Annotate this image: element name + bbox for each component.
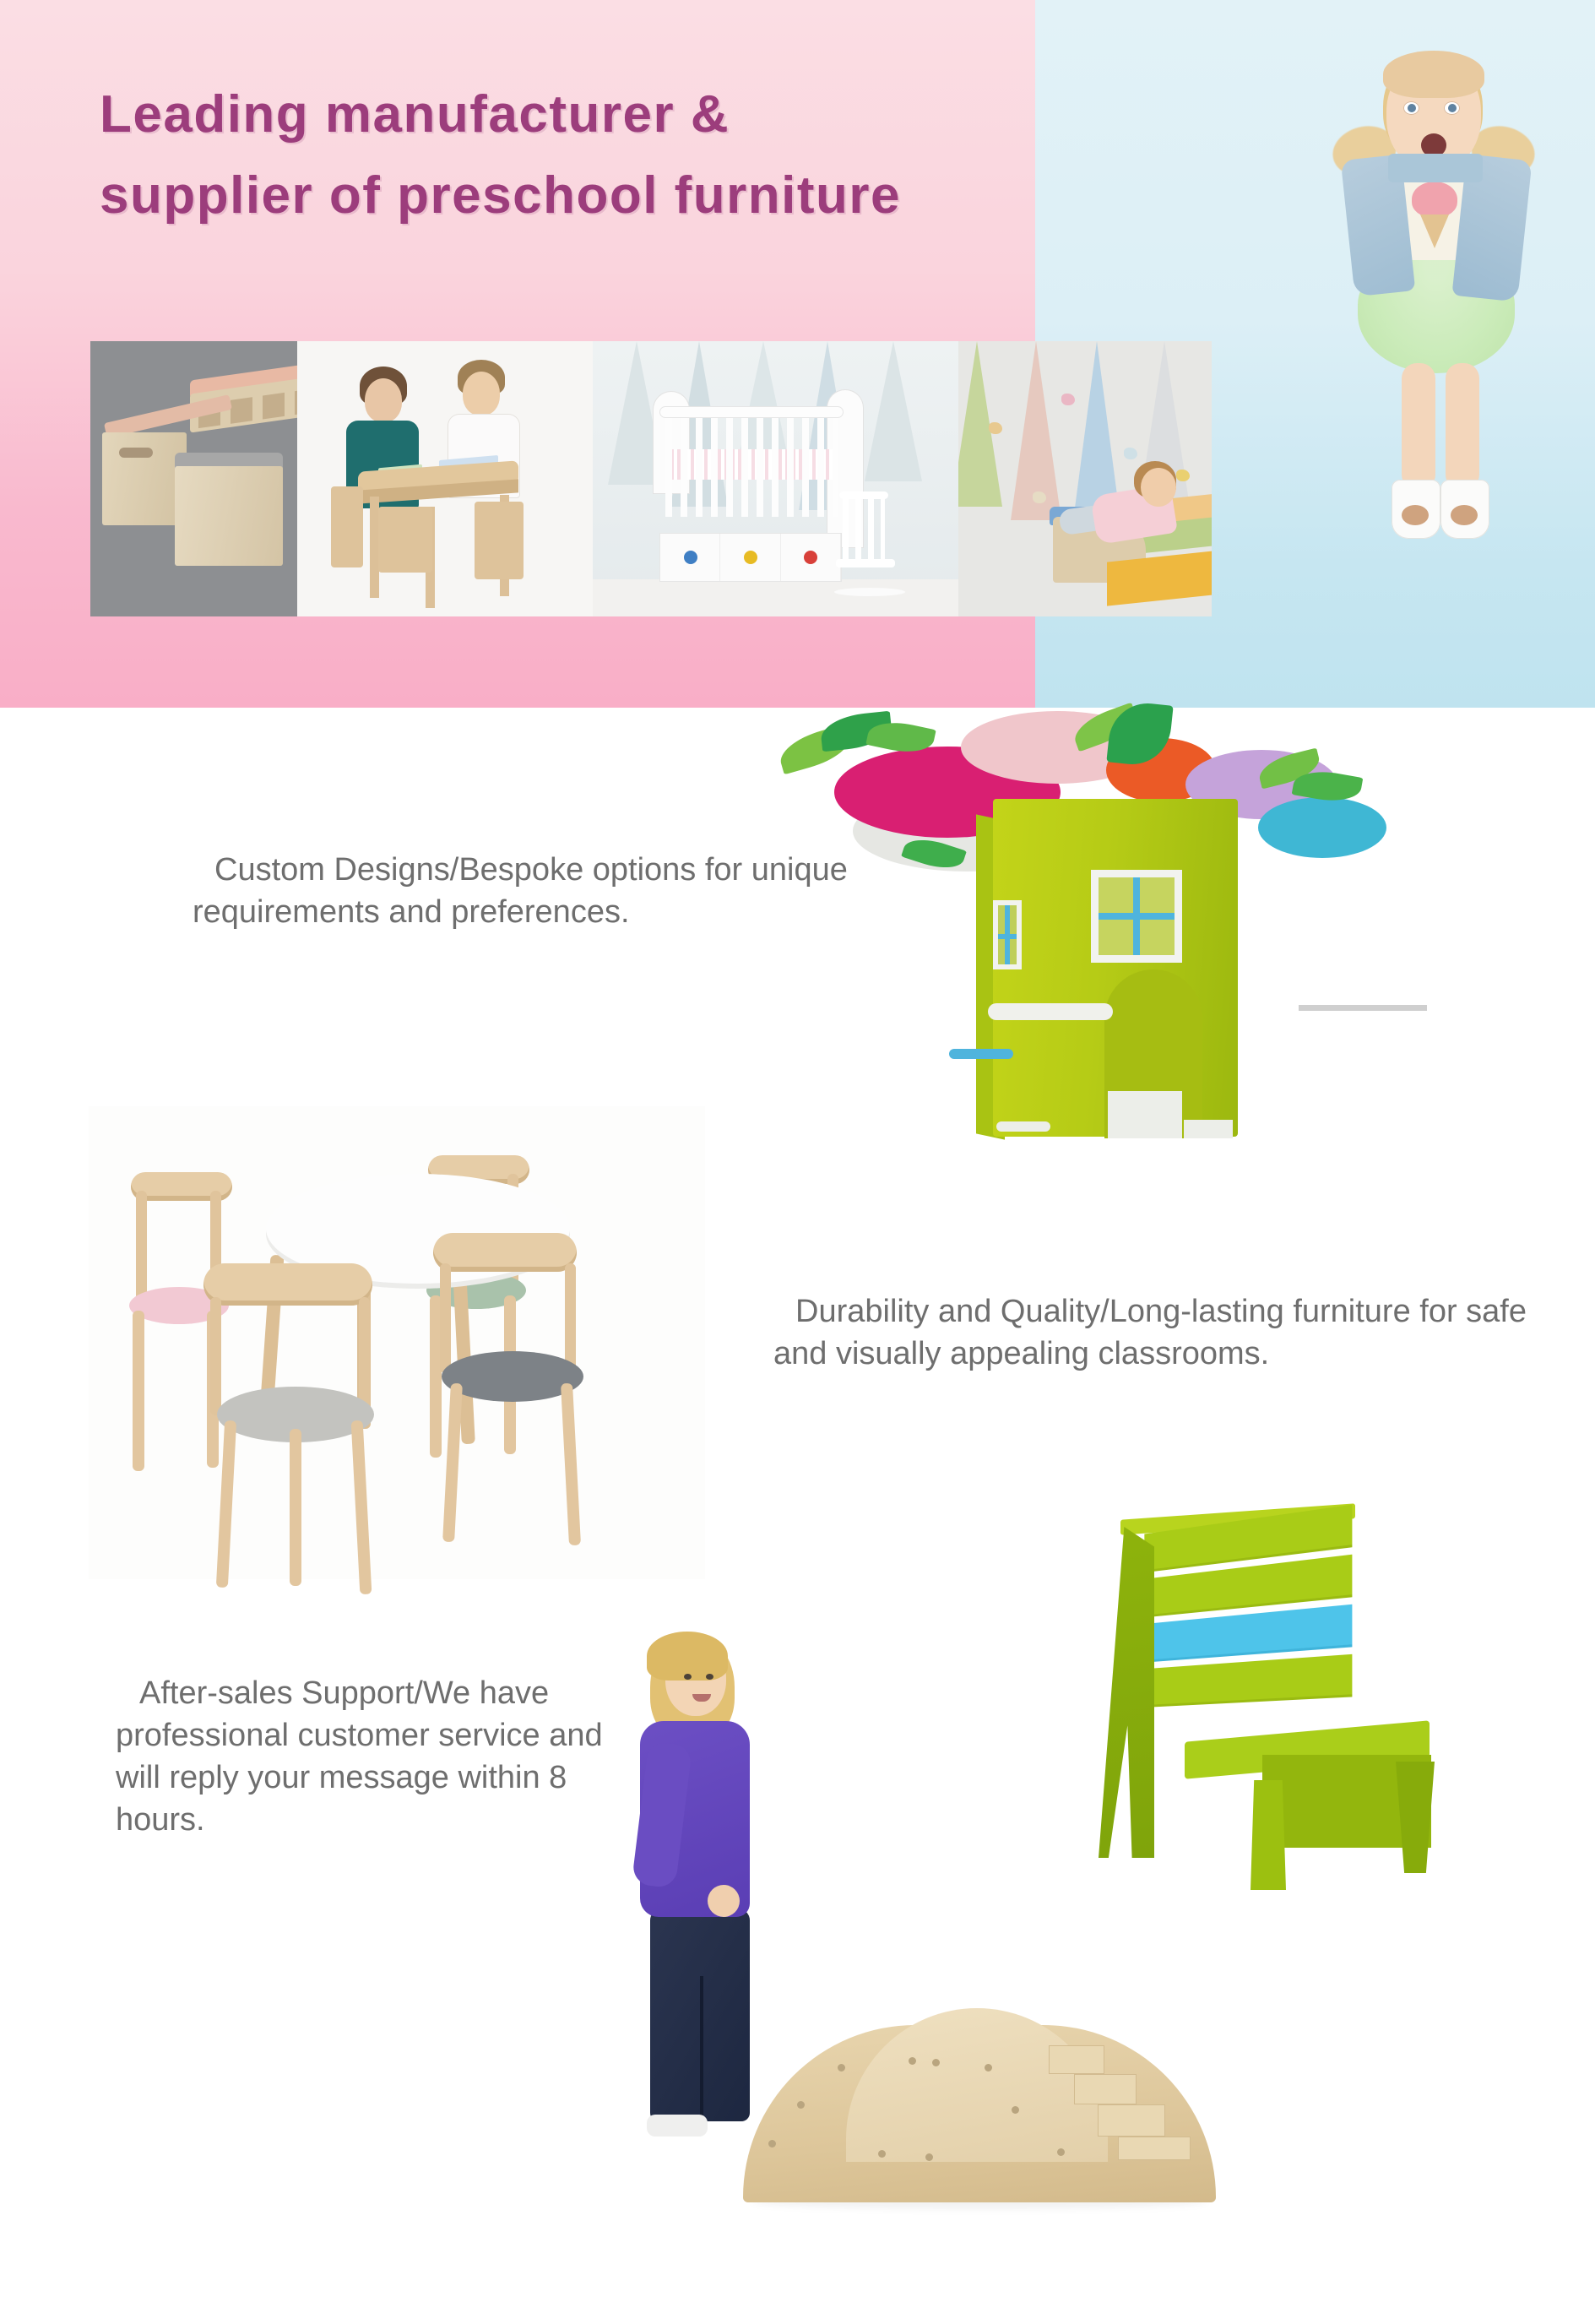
headline-line-2: supplier of preschool furniture [100, 170, 1054, 222]
rocking-chair [836, 495, 909, 601]
girl-with-arch-climber-photo [566, 1603, 1241, 2194]
chair-post-left [210, 1297, 221, 1415]
chair-leg-2 [351, 1420, 372, 1594]
drawer-knob-yellow [744, 551, 757, 564]
thumbnail-children-at-table[interactable] [297, 341, 593, 616]
icecream-scoop-print [1412, 182, 1457, 217]
window-mullion-horizontal [1099, 913, 1175, 920]
chair-leg-3 [290, 1429, 301, 1586]
storage-crate [102, 432, 187, 525]
child-jeans [650, 1909, 750, 2121]
chair-backrest [433, 1233, 577, 1272]
headline-line-1: Leading manufacturer & [100, 85, 730, 144]
playhouse-step-3 [1184, 1120, 1233, 1138]
wall-triangle-5 [865, 341, 922, 481]
playhouse-plank-line [1299, 1005, 1427, 1011]
arch-screw-8 [878, 2150, 886, 2158]
child-shoe [647, 2115, 708, 2137]
icecream-cone-print [1420, 214, 1449, 248]
feature-text-durability-quality: Durability and Quality/Long-lasting furn… [773, 1290, 1533, 1375]
playhouse-step-2 [996, 1121, 1050, 1132]
chair-leg-2 [561, 1383, 581, 1545]
child1-head [365, 378, 402, 422]
features-section: Custom Designs/Bespoke options for uniqu… [0, 708, 1595, 2324]
chair-post-right [359, 1297, 370, 1415]
window-mullion-horizontal [998, 934, 1017, 939]
arch-step-1 [1049, 2045, 1104, 2074]
crib-drawer-2 [720, 534, 780, 581]
banner-headline: Leading manufacturer & supplier of presc… [100, 89, 1054, 222]
leg-right [1446, 363, 1479, 490]
sneaker-left [1392, 480, 1440, 539]
banner-thumbnail-strip [90, 341, 1212, 616]
leg-left [1402, 363, 1435, 490]
arch-screw-6 [1012, 2106, 1019, 2114]
arch-screw-1 [838, 2064, 845, 2072]
child-eye-right [706, 1674, 713, 1680]
child2-head [463, 372, 500, 415]
arch-screw-4 [985, 2064, 992, 2072]
playroom-girl-head [1141, 468, 1176, 507]
child-chair-front [378, 507, 432, 573]
denim-jacket-collar [1388, 154, 1483, 182]
climbing-hold-2 [1061, 394, 1075, 405]
playhouse-small-window [993, 900, 1022, 969]
climbing-hold-5 [1033, 491, 1046, 503]
climbing-hold-3 [1124, 448, 1137, 459]
child-chair-left [331, 486, 363, 567]
table-and-chairs-photo [89, 1106, 705, 1579]
eye-right [1444, 101, 1460, 115]
chair-right-leg [1396, 1762, 1435, 1873]
arch-step-3 [1098, 2104, 1165, 2137]
playhouse-step-1 [1108, 1091, 1182, 1138]
canopy-disc-blue [1258, 797, 1386, 858]
playhouse-photo [743, 691, 1402, 1214]
sneaker-right [1440, 480, 1489, 539]
chair-leg-1 [216, 1420, 236, 1588]
wooden-arch-climber [743, 1983, 1216, 2202]
chair-backrest [203, 1263, 372, 1306]
drawer-knob-blue [684, 551, 697, 564]
thumbnail-baby-crib[interactable] [593, 341, 958, 616]
storage-box [175, 466, 283, 566]
climbing-hold-4 [1176, 470, 1190, 481]
playhouse-blue-rung [949, 1049, 1013, 1059]
playhouse-shelf [988, 1003, 1113, 1020]
playhouse-large-window [1091, 870, 1182, 963]
chair-leg-1 [133, 1311, 144, 1471]
toddler-girl-photo [1283, 8, 1579, 701]
eye-left [1403, 101, 1419, 115]
hair-fringe [1383, 51, 1484, 98]
arch-screw-9 [925, 2153, 933, 2161]
chair-post-right [565, 1263, 576, 1373]
chair-front-leg [1251, 1780, 1286, 1890]
child-chair-right [475, 502, 524, 579]
crib-slats [665, 412, 838, 517]
crib-drawer-3 [781, 534, 841, 581]
crib-top-rail [660, 407, 843, 417]
arch-screw-3 [932, 2059, 940, 2066]
crib-drawer-1 [660, 534, 720, 581]
hero-banner: Leading manufacturer & supplier of presc… [0, 0, 1595, 708]
arch-screw-7 [768, 2140, 776, 2148]
arch-step-4 [1118, 2137, 1191, 2160]
arch-step-2 [1074, 2074, 1137, 2104]
feature-text-after-sales-support: After-sales Support/We have professional… [116, 1672, 622, 1842]
thumbnail-climbing-wall-room[interactable] [958, 341, 1212, 616]
crib-drawers [660, 534, 841, 581]
thumbnail-wooden-storage-benches[interactable] [90, 341, 297, 616]
chair-leg-1 [442, 1383, 463, 1542]
chair-post-left [440, 1263, 451, 1373]
arch-screw-2 [909, 2057, 916, 2065]
arch-screw-5 [797, 2101, 805, 2109]
child-eye-left [684, 1674, 692, 1680]
child-hand [708, 1885, 740, 1917]
drawer-knob-red [804, 551, 817, 564]
arch-screw-10 [1057, 2148, 1065, 2156]
climbing-hold-1 [989, 422, 1002, 434]
